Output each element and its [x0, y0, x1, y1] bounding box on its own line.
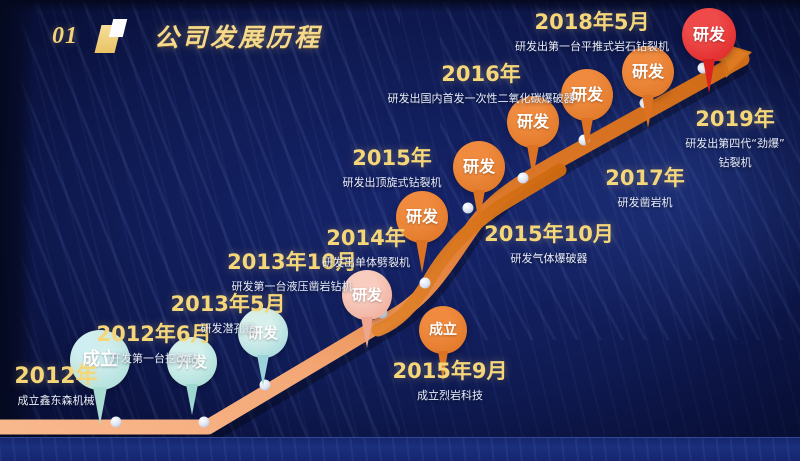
- marker-tail: [581, 118, 593, 151]
- label-desc: 研发出第四代“劲爆”: [672, 135, 798, 151]
- timeline-node-dot[interactable]: [111, 417, 122, 428]
- timeline-label-e2013-05: 2013年5月研发潜孔钻: [160, 288, 296, 336]
- timeline-label-e2015-09: 2015年9月成立烈岩科技: [385, 355, 515, 403]
- marker-tail: [257, 355, 269, 386]
- marker-tail: [186, 384, 198, 415]
- timeline-marker-e2015-09[interactable]: 成立: [419, 306, 467, 354]
- marker-label: 研发: [463, 159, 495, 175]
- timeline-label-e2016: 2016年研发出国内首发一次性二氧化碳爆破器: [366, 58, 596, 106]
- label-year: 2015年10月: [478, 218, 620, 248]
- label-desc: 研发出第一台平推式岩石钻裂机: [482, 38, 702, 54]
- marker-label: 研发: [632, 64, 664, 80]
- timeline-label-e2015-10: 2015年10月研发气体爆破器: [478, 218, 620, 266]
- timeline-node-dot[interactable]: [199, 417, 210, 428]
- label-year: 2018年5月: [482, 6, 702, 36]
- marker-tail: [527, 145, 539, 178]
- timeline-label-e2018-05: 2018年5月研发出第一台平推式岩石钻裂机: [482, 6, 702, 54]
- marker-label: 研发: [517, 114, 549, 130]
- label-desc: 研发第一台液压凿岩钻机: [218, 278, 366, 294]
- label-desc: 研发出国内首发一次性二氧化碳爆破器: [366, 90, 596, 106]
- label-desc: 研发气体爆破器: [478, 250, 620, 266]
- label-desc: 研发出顶旋式钻裂机: [318, 174, 466, 190]
- label-desc: 开发第一台挖改钻: [86, 350, 222, 366]
- marker-tail: [642, 95, 654, 128]
- timeline-label-e2014: 2014年研发出单体劈裂机: [297, 222, 435, 270]
- label-year: 2014年: [297, 222, 435, 252]
- label-year: 2015年9月: [385, 355, 515, 385]
- marker-ball: 成立: [419, 306, 467, 354]
- label-desc: 成立烈岩科技: [385, 387, 515, 403]
- marker-label: 成立: [429, 323, 457, 337]
- label-desc: 研发凿岩机: [585, 194, 705, 210]
- label-year: 2019年: [672, 103, 798, 133]
- label-desc: 成立鑫东森机械: [2, 392, 110, 408]
- label-desc-line2: 钻裂机: [672, 154, 798, 170]
- bottom-strip: [0, 437, 800, 461]
- label-year: 2015年: [318, 142, 466, 172]
- timeline-label-e2015: 2015年研发出顶旋式钻裂机: [318, 142, 466, 190]
- timeline-node-dot[interactable]: [420, 278, 431, 289]
- marker-tail: [361, 317, 373, 348]
- label-year: 2016年: [366, 58, 596, 88]
- marker-tail: [703, 59, 715, 93]
- timeline-label-e2019: 2019年研发出第四代“劲爆”钻裂机: [672, 103, 798, 170]
- timeline-node-dot[interactable]: [463, 203, 474, 214]
- label-desc: 研发出单体劈裂机: [297, 254, 435, 270]
- label-desc: 研发潜孔钻: [160, 320, 296, 336]
- infographic-slide: 01 公司发展历程: [0, 0, 800, 461]
